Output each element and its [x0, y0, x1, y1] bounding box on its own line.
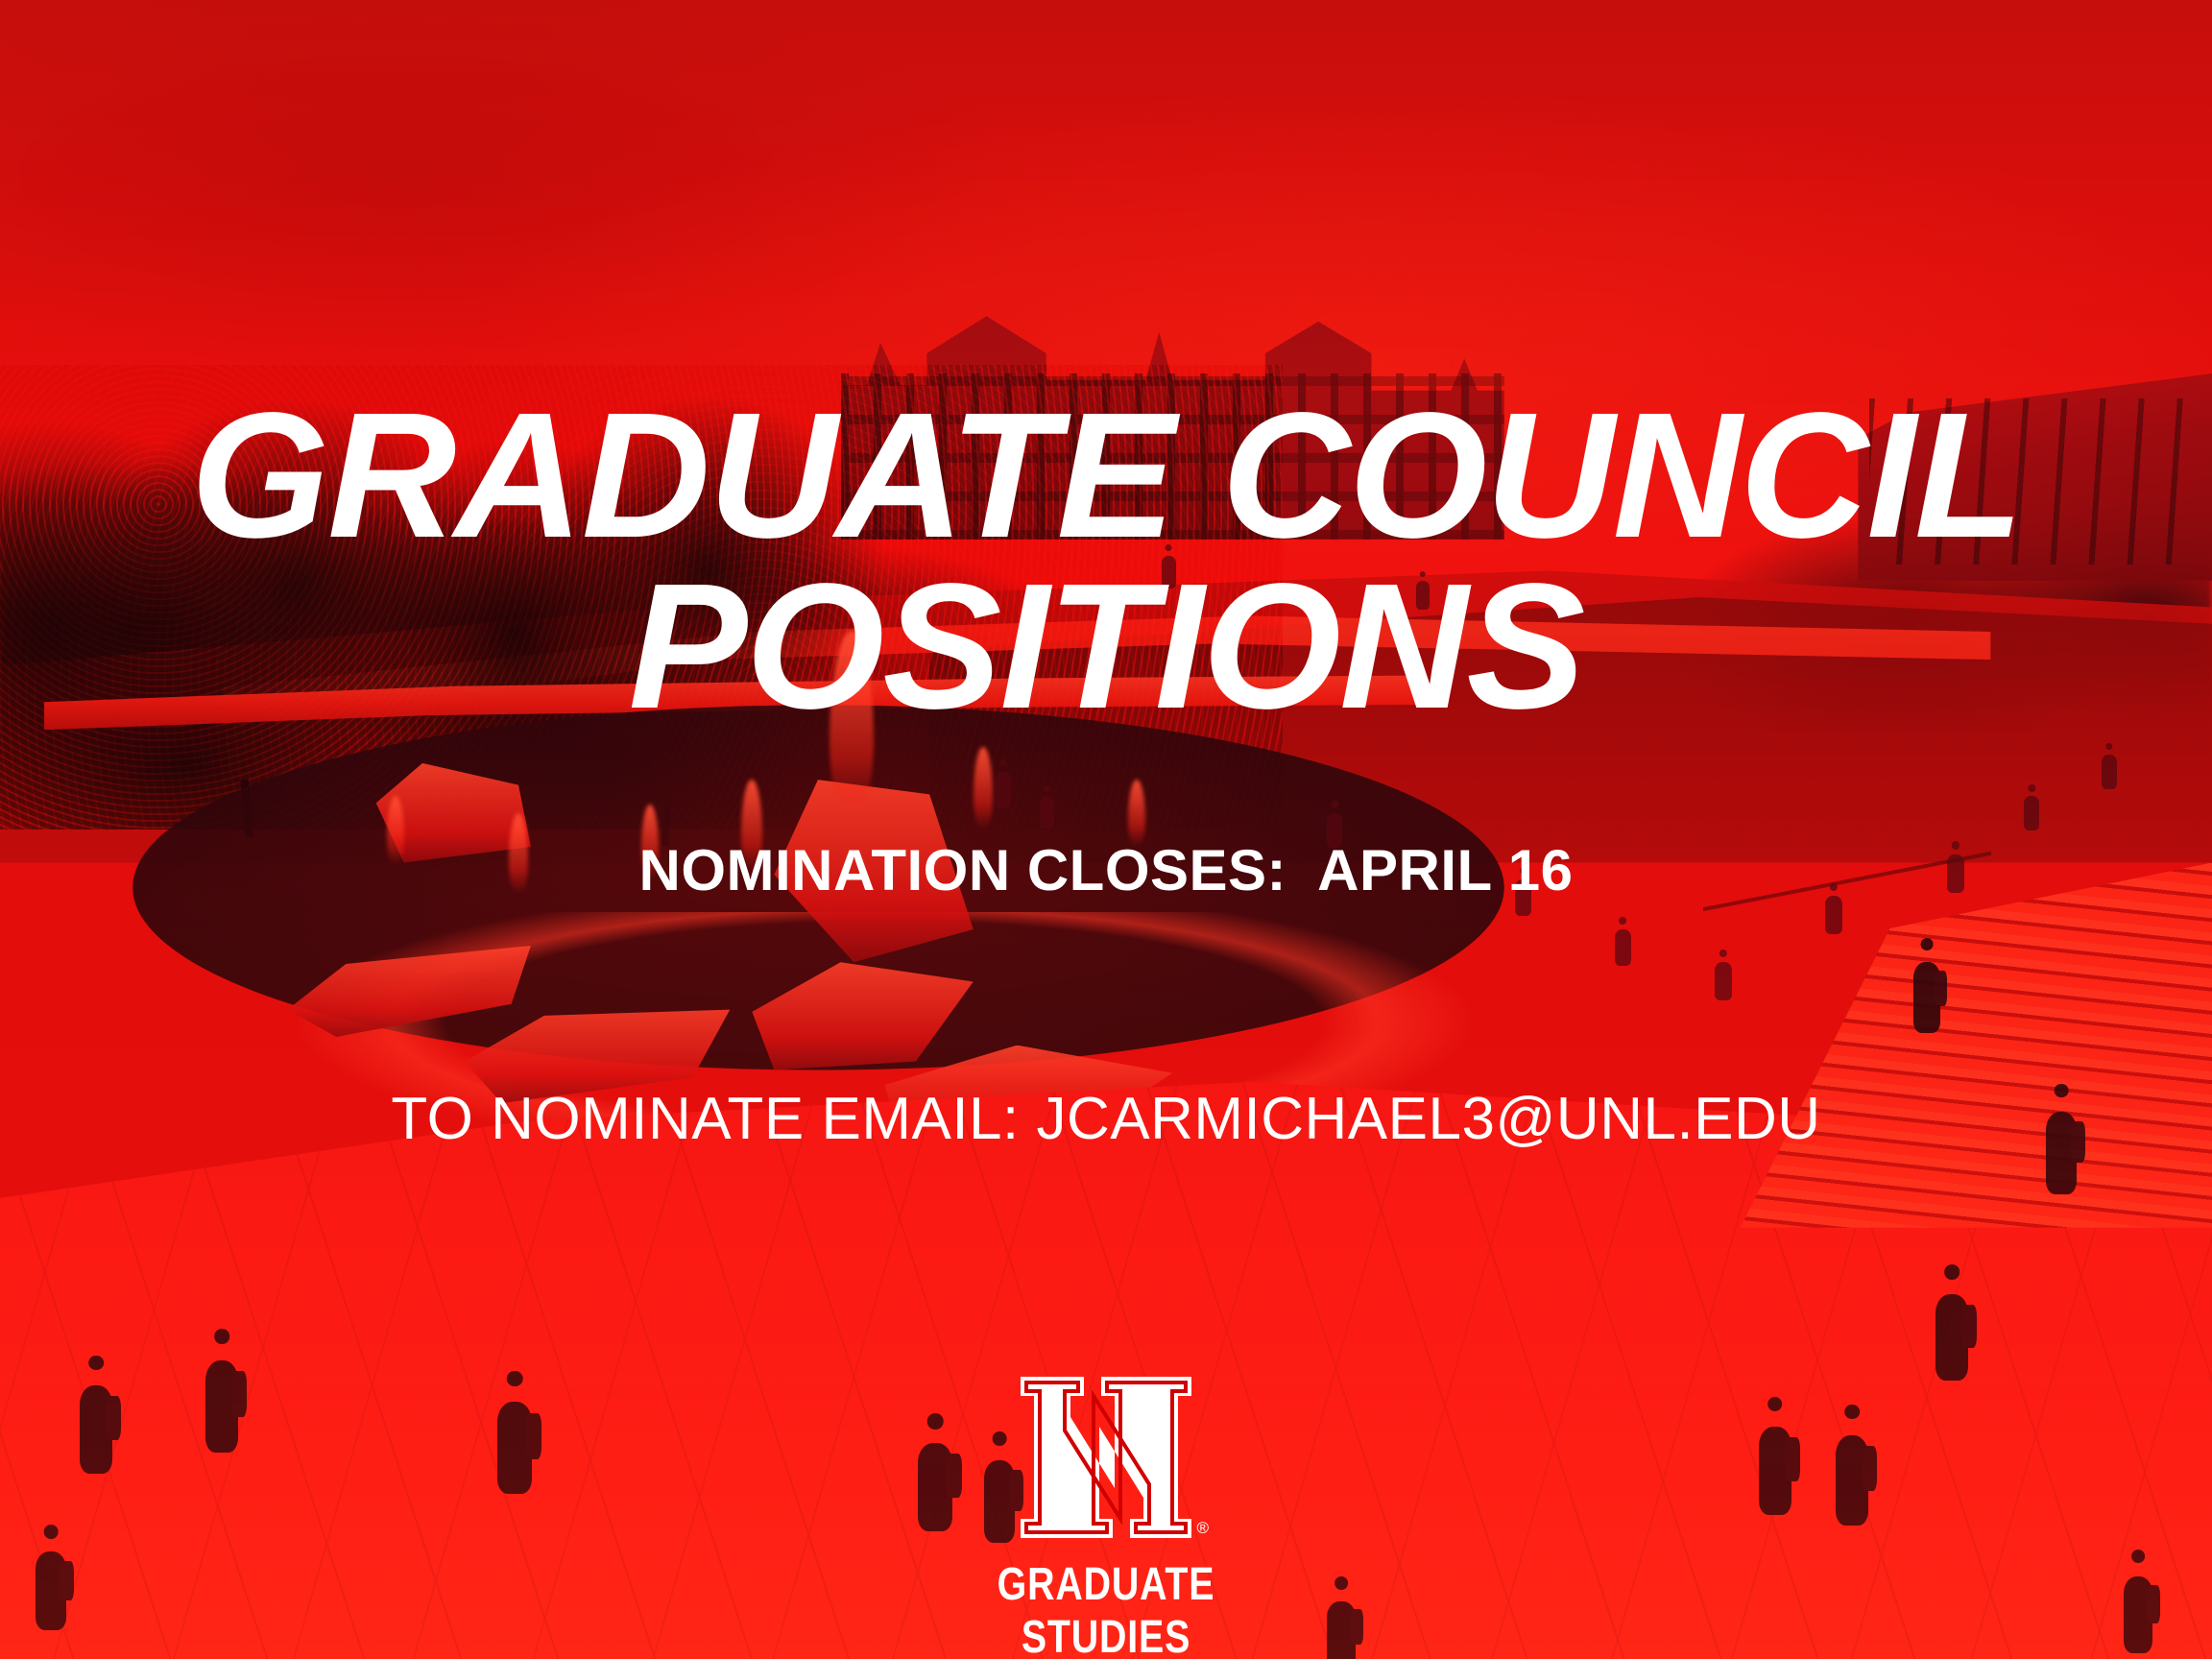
- nebraska-n-icon: ®: [1015, 1375, 1197, 1540]
- registered-trademark-icon: ®: [1196, 1520, 1209, 1536]
- nomination-deadline-text: NOMINATION CLOSES: APRIL 16: [0, 837, 2212, 903]
- poster-content: GRADUATE COUNCIL POSITIONS NOMINATION CL…: [0, 0, 2212, 1659]
- nomination-email-text: TO NOMINATE EMAIL: JCARMICHAEL3@UNL.EDU: [0, 1085, 2212, 1153]
- poster-canvas: GRADUATE COUNCIL POSITIONS NOMINATION CL…: [0, 0, 2212, 1659]
- graduate-studies-logo: ® GRADUATE STUDIES: [904, 1375, 1308, 1659]
- logo-wordmark: GRADUATE STUDIES: [941, 1558, 1271, 1659]
- page-title: GRADUATE COUNCIL POSITIONS: [0, 391, 2212, 733]
